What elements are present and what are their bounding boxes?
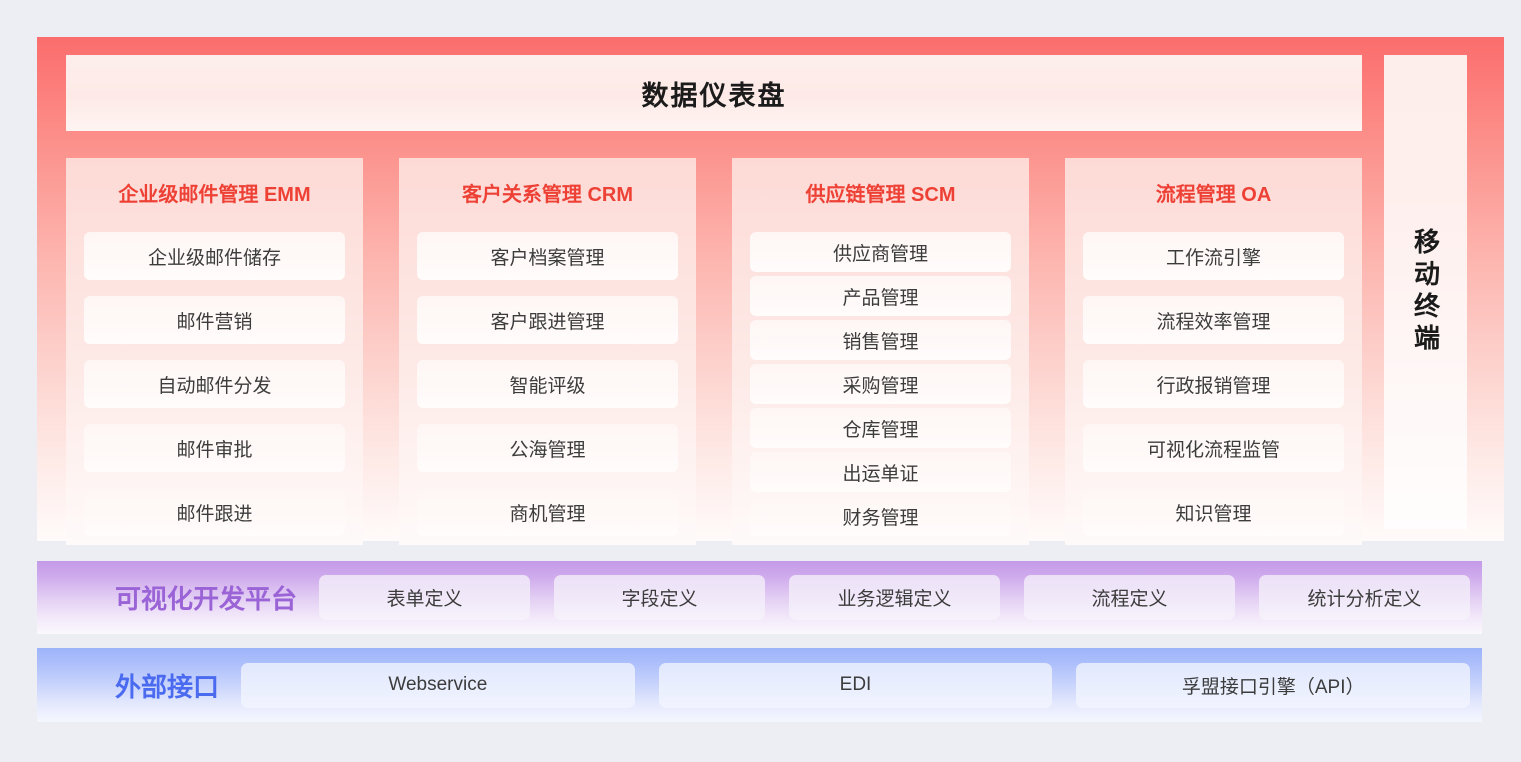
module-item[interactable]: 产品管理 [750,276,1011,316]
module-column-scm-items: 供应商管理 产品管理 销售管理 采购管理 仓库管理 出运单证 财务管理 [750,232,1011,545]
data-dashboard-banner[interactable]: 数据仪表盘 [66,55,1362,131]
module-column-crm: 客户关系管理 CRM 客户档案管理 客户跟进管理 智能评级 公海管理 商机管理 [399,158,696,545]
visual-development-platform-items: 表单定义 字段定义 业务逻辑定义 流程定义 统计分析定义 [319,575,1470,620]
module-item[interactable]: 行政报销管理 [1083,360,1344,408]
architecture-diagram: 数据仪表盘 企业级邮件管理 EMM 企业级邮件储存 邮件营销 自动邮件分发 邮件… [0,0,1521,762]
interface-item[interactable]: Webservice [241,663,635,708]
external-interface-items: Webservice EDI 孚盟接口引擎（API） [241,663,1470,708]
module-item[interactable]: 流程效率管理 [1083,296,1344,344]
external-interface-label: 外部接口 [115,667,219,704]
module-item[interactable]: 仓库管理 [750,408,1011,448]
module-column-emm-items: 企业级邮件储存 邮件营销 自动邮件分发 邮件审批 邮件跟进 [84,232,345,552]
external-interface-bar: 外部接口 Webservice EDI 孚盟接口引擎（API） [37,648,1482,722]
module-item[interactable]: 可视化流程监管 [1083,424,1344,472]
module-item[interactable]: 邮件营销 [84,296,345,344]
module-item[interactable]: 出运单证 [750,452,1011,492]
module-column-crm-title: 客户关系管理 CRM [417,158,678,232]
mobile-terminal-panel[interactable]: 移动终端 [1384,55,1467,529]
application-layer-content: 数据仪表盘 企业级邮件管理 EMM 企业级邮件储存 邮件营销 自动邮件分发 邮件… [66,55,1362,529]
module-item[interactable]: 知识管理 [1083,488,1344,536]
platform-item[interactable]: 流程定义 [1024,575,1235,620]
platform-item[interactable]: 统计分析定义 [1259,575,1470,620]
module-item[interactable]: 邮件审批 [84,424,345,472]
platform-item[interactable]: 业务逻辑定义 [789,575,1000,620]
platform-item[interactable]: 字段定义 [554,575,765,620]
module-item[interactable]: 企业级邮件储存 [84,232,345,280]
module-column-oa-title: 流程管理 OA [1083,158,1344,232]
data-dashboard-title: 数据仪表盘 [642,74,787,113]
application-layer-panel: 数据仪表盘 企业级邮件管理 EMM 企业级邮件储存 邮件营销 自动邮件分发 邮件… [37,37,1504,541]
module-item[interactable]: 销售管理 [750,320,1011,360]
module-column-scm-title: 供应链管理 SCM [750,158,1011,232]
module-column-oa: 流程管理 OA 工作流引擎 流程效率管理 行政报销管理 可视化流程监管 知识管理 [1065,158,1362,545]
visual-development-platform-label: 可视化开发平台 [115,579,297,616]
module-item[interactable]: 客户跟进管理 [417,296,678,344]
module-item[interactable]: 自动邮件分发 [84,360,345,408]
module-item[interactable]: 智能评级 [417,360,678,408]
module-item[interactable]: 采购管理 [750,364,1011,404]
interface-item[interactable]: EDI [659,663,1053,708]
module-column-crm-items: 客户档案管理 客户跟进管理 智能评级 公海管理 商机管理 [417,232,678,552]
module-item[interactable]: 供应商管理 [750,232,1011,272]
module-column-emm: 企业级邮件管理 EMM 企业级邮件储存 邮件营销 自动邮件分发 邮件审批 邮件跟… [66,158,363,545]
module-column-scm: 供应链管理 SCM 供应商管理 产品管理 销售管理 采购管理 仓库管理 出运单证… [732,158,1029,545]
module-column-oa-items: 工作流引擎 流程效率管理 行政报销管理 可视化流程监管 知识管理 [1083,232,1344,552]
visual-development-platform-bar: 可视化开发平台 表单定义 字段定义 业务逻辑定义 流程定义 统计分析定义 [37,561,1482,634]
module-item[interactable]: 客户档案管理 [417,232,678,280]
module-column-emm-title: 企业级邮件管理 EMM [84,158,345,232]
module-item[interactable]: 公海管理 [417,424,678,472]
module-item[interactable]: 邮件跟进 [84,488,345,536]
module-item[interactable]: 商机管理 [417,488,678,536]
interface-item[interactable]: 孚盟接口引擎（API） [1076,663,1470,708]
module-item[interactable]: 财务管理 [750,496,1011,536]
module-item[interactable]: 工作流引擎 [1083,232,1344,280]
module-columns: 企业级邮件管理 EMM 企业级邮件储存 邮件营销 自动邮件分发 邮件审批 邮件跟… [66,158,1362,545]
platform-item[interactable]: 表单定义 [319,575,530,620]
mobile-terminal-label: 移动终端 [1413,228,1439,356]
